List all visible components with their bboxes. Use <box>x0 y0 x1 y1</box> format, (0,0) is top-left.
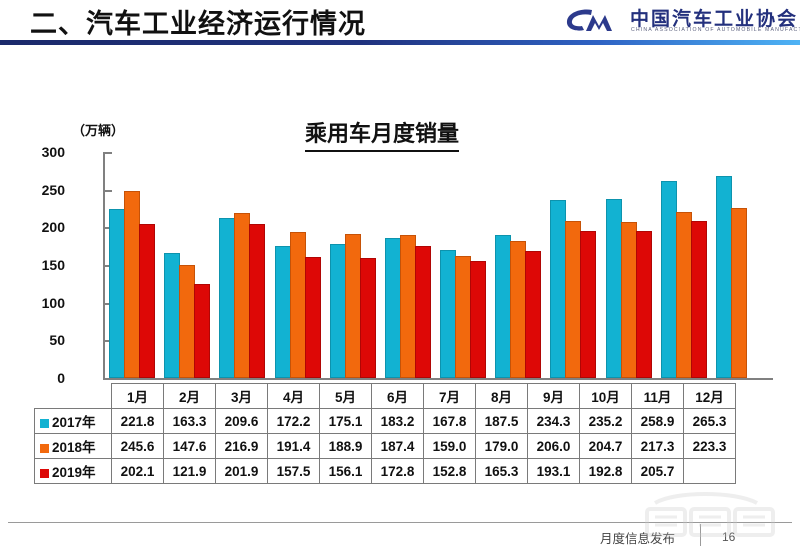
bar-group <box>330 152 385 378</box>
y-axis-tick-label: 150 <box>42 257 65 273</box>
table-column-header: 8月 <box>476 384 528 409</box>
bar <box>124 191 140 378</box>
bar <box>385 238 401 378</box>
bar <box>510 241 526 378</box>
header-divider <box>0 40 800 45</box>
y-axis-tick-label: 50 <box>49 332 65 348</box>
bar <box>219 218 235 378</box>
table-cell: 258.9 <box>632 409 684 434</box>
legend-label: 2018年 <box>52 440 96 455</box>
bar <box>621 222 637 378</box>
bar <box>330 244 346 378</box>
bar-group <box>661 152 716 378</box>
table-cell: 235.2 <box>580 409 632 434</box>
table-cell: 156.1 <box>320 459 372 484</box>
bar <box>691 221 707 378</box>
table-cell: 159.0 <box>424 434 476 459</box>
bar <box>400 235 416 378</box>
table-row: 2019年202.1121.9201.9157.5156.1172.8152.8… <box>35 459 736 484</box>
table-cell: 193.1 <box>528 459 580 484</box>
table-column-header: 12月 <box>684 384 736 409</box>
bar-group <box>495 152 550 378</box>
bar <box>455 256 471 378</box>
bar <box>731 208 747 378</box>
table-column-header: 7月 <box>424 384 476 409</box>
table-cell: 234.3 <box>528 409 580 434</box>
table-cell: 167.8 <box>424 409 476 434</box>
bar <box>345 234 361 378</box>
table-cell: 187.5 <box>476 409 528 434</box>
table-cell: 204.7 <box>580 434 632 459</box>
bar-group <box>164 152 219 378</box>
table-header-row: 1月2月3月4月5月6月7月8月9月10月11月12月 <box>35 384 736 409</box>
table-cell: 121.9 <box>164 459 216 484</box>
table-cell: 223.3 <box>684 434 736 459</box>
bar <box>415 246 431 378</box>
legend-label: 2019年 <box>52 465 96 480</box>
table-cell: 202.1 <box>112 459 164 484</box>
bar-group <box>109 152 164 378</box>
table-cell: 165.3 <box>476 459 528 484</box>
table-cell: 157.5 <box>268 459 320 484</box>
chart-title: 乘用车月度销量 <box>305 116 459 152</box>
footer-separator <box>700 524 701 546</box>
bar <box>495 235 511 378</box>
bar <box>550 200 566 379</box>
table-cell: 191.4 <box>268 434 320 459</box>
table-cell: 172.8 <box>372 459 424 484</box>
table-cell: 205.7 <box>632 459 684 484</box>
bar <box>606 199 622 378</box>
table-cell: 265.3 <box>684 409 736 434</box>
bar <box>234 213 250 378</box>
bar <box>661 181 677 378</box>
table-column-header: 1月 <box>112 384 164 409</box>
table-cell: 179.0 <box>476 434 528 459</box>
table-cell: 216.9 <box>216 434 268 459</box>
table-column-header: 6月 <box>372 384 424 409</box>
bar <box>109 209 125 378</box>
table-cell: 187.4 <box>372 434 424 459</box>
footer-label: 月度信息发布 <box>600 528 675 547</box>
footer-divider <box>8 522 792 523</box>
table-cell: 206.0 <box>528 434 580 459</box>
bar <box>636 231 652 378</box>
table-cell: 147.6 <box>164 434 216 459</box>
table-column-header: 9月 <box>528 384 580 409</box>
bar <box>164 253 180 378</box>
y-axis-tick-label: 100 <box>42 295 65 311</box>
table-cell: 175.1 <box>320 409 372 434</box>
page-title: 二、汽车工业经济运行情况 <box>30 2 366 41</box>
bar <box>249 224 265 378</box>
x-axis-line <box>103 378 773 380</box>
bar <box>525 251 541 378</box>
bar <box>360 258 376 378</box>
table-cell <box>684 459 736 484</box>
table-cell: 183.2 <box>372 409 424 434</box>
bar-group <box>275 152 330 378</box>
data-table: 1月2月3月4月5月6月7月8月9月10月11月12月2017年221.8163… <box>34 383 736 484</box>
bar <box>470 261 486 378</box>
table-column-header: 5月 <box>320 384 372 409</box>
bar <box>179 265 195 378</box>
table-cell: 209.6 <box>216 409 268 434</box>
table-column-header: 11月 <box>632 384 684 409</box>
legend-item-2017年: 2017年 <box>35 409 112 434</box>
bar-group <box>550 152 605 378</box>
y-axis-tick-label: 200 <box>42 219 65 235</box>
table-corner-cell <box>35 384 112 409</box>
bar <box>580 231 596 378</box>
table-cell: 152.8 <box>424 459 476 484</box>
legend-swatch-icon <box>40 444 49 453</box>
table-column-header: 3月 <box>216 384 268 409</box>
legend-label: 2017年 <box>52 415 96 430</box>
bar <box>305 257 321 378</box>
legend-swatch-icon <box>40 419 49 428</box>
bar <box>275 246 291 378</box>
bar <box>139 224 155 378</box>
bar <box>565 221 581 378</box>
table-cell: 217.3 <box>632 434 684 459</box>
table-cell: 172.2 <box>268 409 320 434</box>
table-column-header: 4月 <box>268 384 320 409</box>
bar-group <box>440 152 495 378</box>
table-cell: 245.6 <box>112 434 164 459</box>
table-column-header: 2月 <box>164 384 216 409</box>
bar-group <box>219 152 274 378</box>
caam-logo-mark-icon <box>564 6 626 34</box>
bar-chart-plot-area: 300250200150100500 <box>103 152 773 380</box>
caam-logo: 中国汽车工业协会 CHINA ASSOCIATION OF AUTOMOBILE… <box>564 4 782 38</box>
bar <box>290 232 306 378</box>
table-cell: 188.9 <box>320 434 372 459</box>
legend-item-2018年: 2018年 <box>35 434 112 459</box>
y-axis-tick <box>105 378 112 380</box>
bar-group <box>716 152 771 378</box>
legend-item-2019年: 2019年 <box>35 459 112 484</box>
table-cell: 221.8 <box>112 409 164 434</box>
bar <box>440 250 456 378</box>
bar <box>194 284 210 378</box>
page-number: 16 <box>722 530 735 544</box>
bar-group <box>385 152 440 378</box>
bar-group <box>606 152 661 378</box>
y-axis-tick-label: 250 <box>42 182 65 198</box>
y-axis-unit-label: （万辆） <box>72 120 124 139</box>
bar <box>716 176 732 378</box>
table-row: 2018年245.6147.6216.9191.4188.9187.4159.0… <box>35 434 736 459</box>
table-column-header: 10月 <box>580 384 632 409</box>
legend-swatch-icon <box>40 469 49 478</box>
table-cell: 163.3 <box>164 409 216 434</box>
page-header: 二、汽车工业经济运行情况 中国汽车工业协会 CHINA ASSOCIATION … <box>0 0 800 52</box>
bar <box>676 212 692 378</box>
table-cell: 201.9 <box>216 459 268 484</box>
table-cell: 192.8 <box>580 459 632 484</box>
y-axis-tick-label: 300 <box>42 144 65 160</box>
logo-name-en: CHINA ASSOCIATION OF AUTOMOBILE MANUFACT… <box>631 27 800 33</box>
table-row: 2017年221.8163.3209.6172.2175.1183.2167.8… <box>35 409 736 434</box>
